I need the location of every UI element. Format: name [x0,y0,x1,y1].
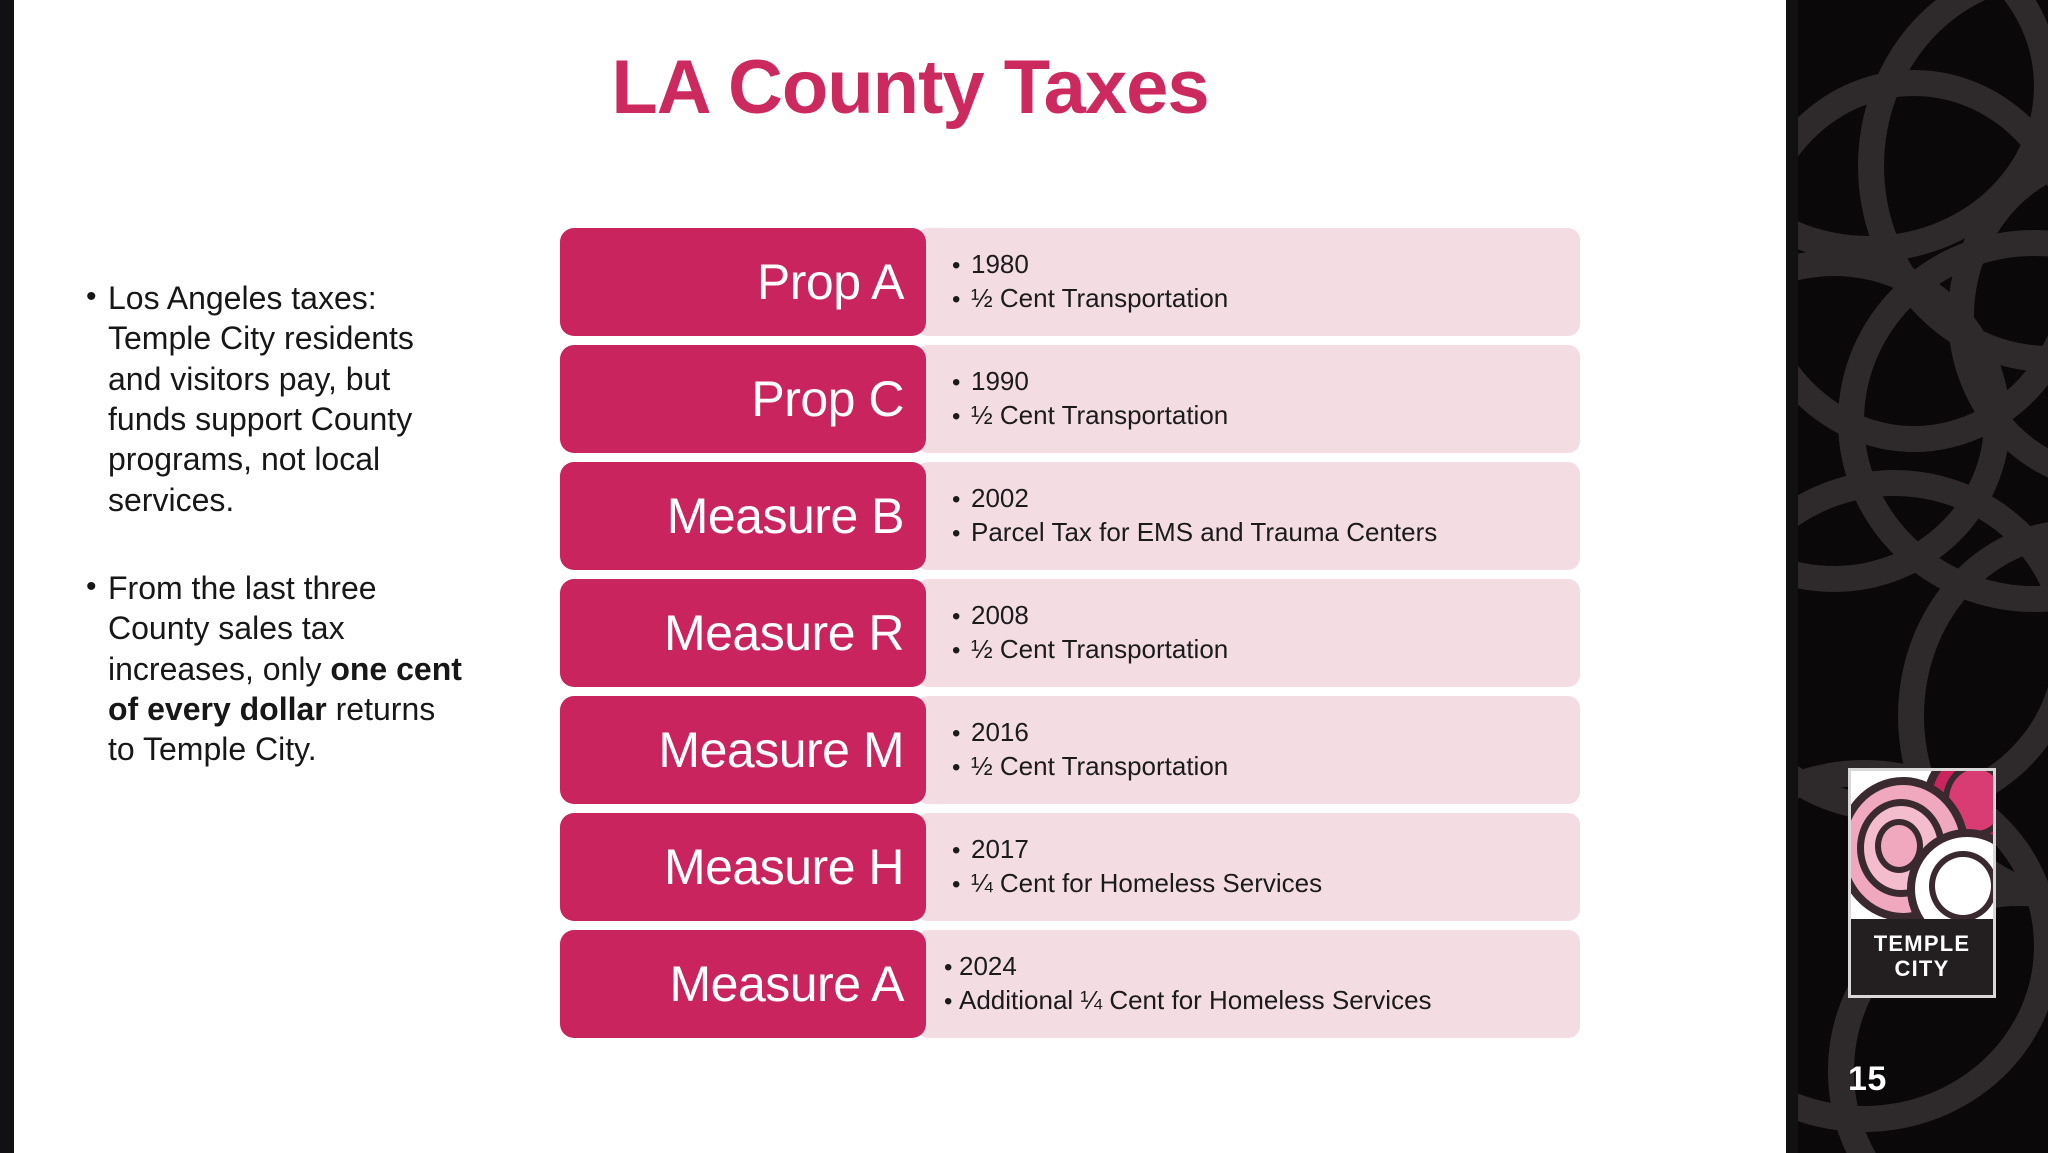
measure-year: 2002 [971,482,1580,515]
measure-label-badge: Measure B [560,462,926,570]
measure-detail-line: •2002 [952,482,1580,516]
measure-year: 2024 [959,950,1580,983]
measure-detail-line: •2008 [952,599,1580,633]
measure-row: Measure R•2008•½ Cent Transportation [560,579,1580,687]
measure-detail-line: •Additional ¼ Cent for Homeless Services [944,984,1580,1018]
slide: LA County Taxes •Los Angeles taxes: Temp… [0,0,2048,1153]
logo-line-1: TEMPLE [1874,932,1970,957]
measure-detail-line: •¼ Cent for Homeless Services [952,867,1580,901]
left-bullet-item: •Los Angeles taxes: Temple City resident… [86,278,466,520]
bullet-dot-icon: • [86,568,108,770]
bullet-dot-icon: • [952,719,971,750]
measure-detail-panel: •2008•½ Cent Transportation [916,579,1580,687]
measure-row: Measure A•2024•Additional ¼ Cent for Hom… [560,930,1580,1038]
measure-detail-panel: •2016•½ Cent Transportation [916,696,1580,804]
measure-detail-line: •1980 [952,248,1580,282]
left-edge-bar [0,0,14,1153]
measure-label-badge: Measure M [560,696,926,804]
bullet-dot-icon: • [86,278,108,520]
measure-detail-line: •1990 [952,365,1580,399]
measure-year: 1980 [971,248,1580,281]
bullet-dot-icon: • [952,485,971,516]
rose-white-inner [1929,851,1993,919]
bullet-dot-icon: • [952,870,971,901]
bullet-dot-icon: • [944,987,959,1018]
left-bullet-item: •From the last three County sales tax in… [86,568,466,770]
measure-label-badge: Measure A [560,930,926,1038]
logo-line-2: CITY [1895,957,1950,982]
bullet-dot-icon: • [952,519,971,550]
measure-year: 2008 [971,599,1580,632]
measure-detail-panel: •2024•Additional ¼ Cent for Homeless Ser… [916,930,1580,1038]
rose-illustration-icon [1851,771,1993,919]
bullet-dot-icon: • [952,753,971,784]
bullet-dot-icon: • [952,636,971,667]
bullet-dot-icon: • [952,251,971,282]
measure-detail-line: •½ Cent Transportation [952,399,1580,433]
bullet-dot-icon: • [952,402,971,433]
measure-detail-line: •2016 [952,716,1580,750]
left-bullet-column: •Los Angeles taxes: Temple City resident… [86,278,466,817]
left-bullet-text: Los Angeles taxes: Temple City residents… [108,278,466,520]
measure-description: ½ Cent Transportation [971,633,1580,666]
measure-description: Additional ¼ Cent for Homeless Services [959,984,1580,1017]
bullet-dot-icon: • [944,953,959,984]
measure-detail-line: •½ Cent Transportation [952,750,1580,784]
bullet-dot-icon: • [952,285,971,316]
measure-label-badge: Measure R [560,579,926,687]
measure-description: ½ Cent Transportation [971,399,1580,432]
measure-label-badge: Measure H [560,813,926,921]
temple-city-logo: TEMPLE CITY [1848,768,1996,998]
bullet-dot-icon: • [952,836,971,867]
measure-row: Measure M•2016•½ Cent Transportation [560,696,1580,804]
page-number: 15 [1848,1060,1887,1099]
measure-detail-panel: •1990•½ Cent Transportation [916,345,1580,453]
measure-detail-line: •2024 [944,950,1580,984]
measure-detail-line: •2017 [952,833,1580,867]
measure-detail-panel: •1980•½ Cent Transportation [916,228,1580,336]
measure-row: Measure H•2017•¼ Cent for Homeless Servi… [560,813,1580,921]
right-edge-bar [1786,0,1798,1153]
measure-detail-panel: •2002•Parcel Tax for EMS and Trauma Cent… [916,462,1580,570]
logo-name-band: TEMPLE CITY [1851,919,1993,995]
measure-description: ½ Cent Transportation [971,282,1580,315]
measure-detail-line: •½ Cent Transportation [952,282,1580,316]
measure-description: ¼ Cent for Homeless Services [971,867,1580,900]
bullet-text-plain: Los Angeles taxes: Temple City residents… [108,280,414,518]
measure-year: 1990 [971,365,1580,398]
measure-year: 2017 [971,833,1580,866]
measure-label-badge: Prop C [560,345,926,453]
measures-list: Prop A•1980•½ Cent TransportationProp C•… [560,228,1580,1047]
measure-detail-line: •Parcel Tax for EMS and Trauma Centers [952,516,1580,550]
measure-detail-line: •½ Cent Transportation [952,633,1580,667]
bullet-dot-icon: • [952,368,971,399]
measure-description: Parcel Tax for EMS and Trauma Centers [971,516,1580,549]
page-title: LA County Taxes [60,48,1760,128]
measure-row: Measure B•2002•Parcel Tax for EMS and Tr… [560,462,1580,570]
measure-year: 2016 [971,716,1580,749]
bullet-dot-icon: • [952,602,971,633]
left-bullet-text: From the last three County sales tax inc… [108,568,466,770]
measure-detail-panel: •2017•¼ Cent for Homeless Services [916,813,1580,921]
measure-label-badge: Prop A [560,228,926,336]
measure-row: Prop A•1980•½ Cent Transportation [560,228,1580,336]
measure-description: ½ Cent Transportation [971,750,1580,783]
measure-row: Prop C•1990•½ Cent Transportation [560,345,1580,453]
